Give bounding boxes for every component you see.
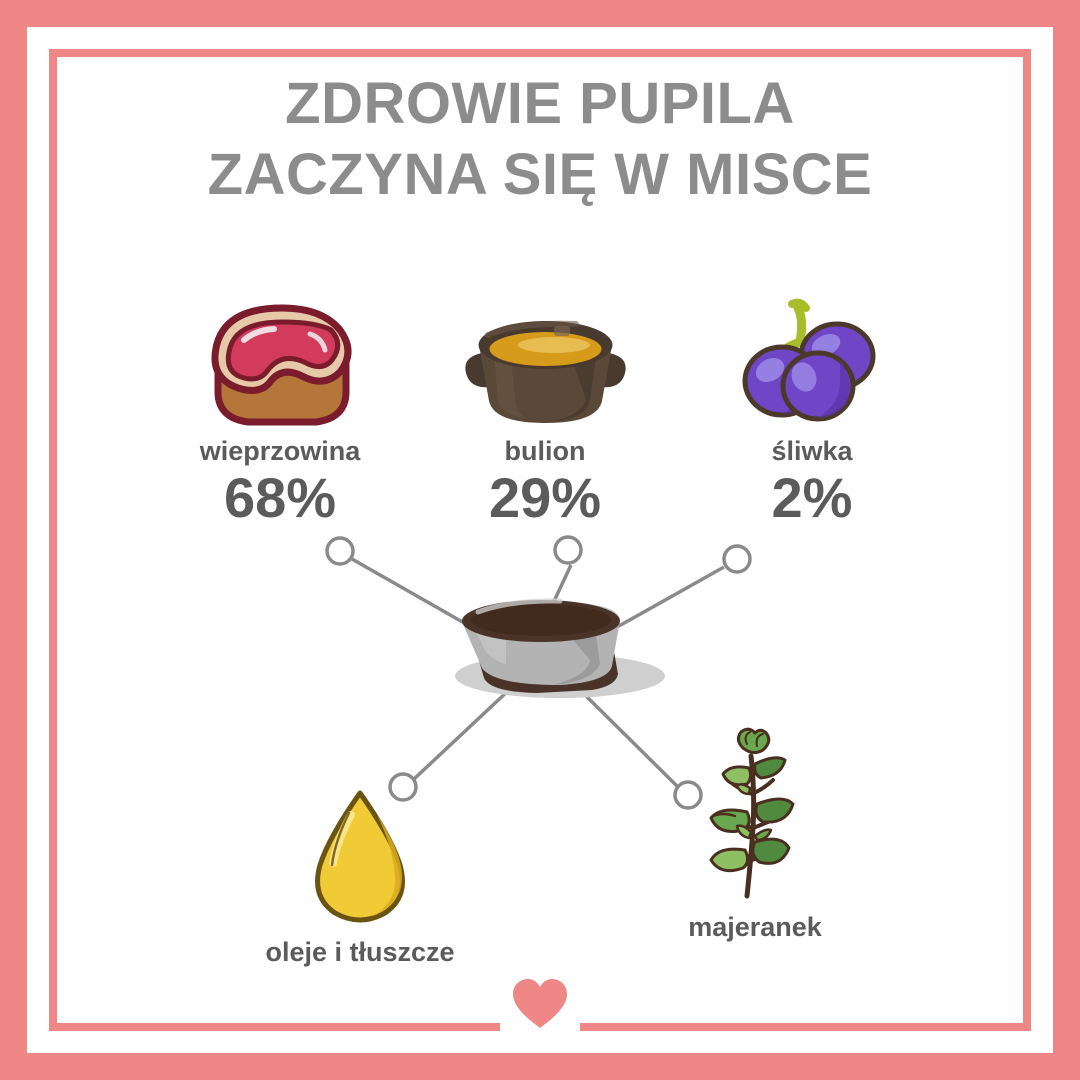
connector-node-broth: [555, 537, 581, 563]
ingredient-oil: oleje i tłuszcze: [245, 740, 475, 968]
marjoram-sprig-icon: [640, 715, 870, 900]
heart-icon: [511, 978, 569, 1030]
connector-node-pork: [327, 538, 353, 564]
ingredient-marjoram: majeranek: [640, 715, 870, 943]
ingredient-label-oil: oleje i tłuszcze: [245, 937, 475, 968]
connector-line-plum: [610, 567, 724, 631]
pet-bowl-icon: [462, 600, 620, 693]
infographic-canvas: ZDROWIE PUPILA ZACZYNA SIĘ W MISCE wiepr…: [0, 0, 1080, 1080]
oil-drop-icon: [245, 740, 475, 925]
connector-node-plum: [724, 546, 750, 572]
connector-diagram: [0, 0, 1080, 1080]
ingredient-label-marjoram: majeranek: [640, 912, 870, 943]
